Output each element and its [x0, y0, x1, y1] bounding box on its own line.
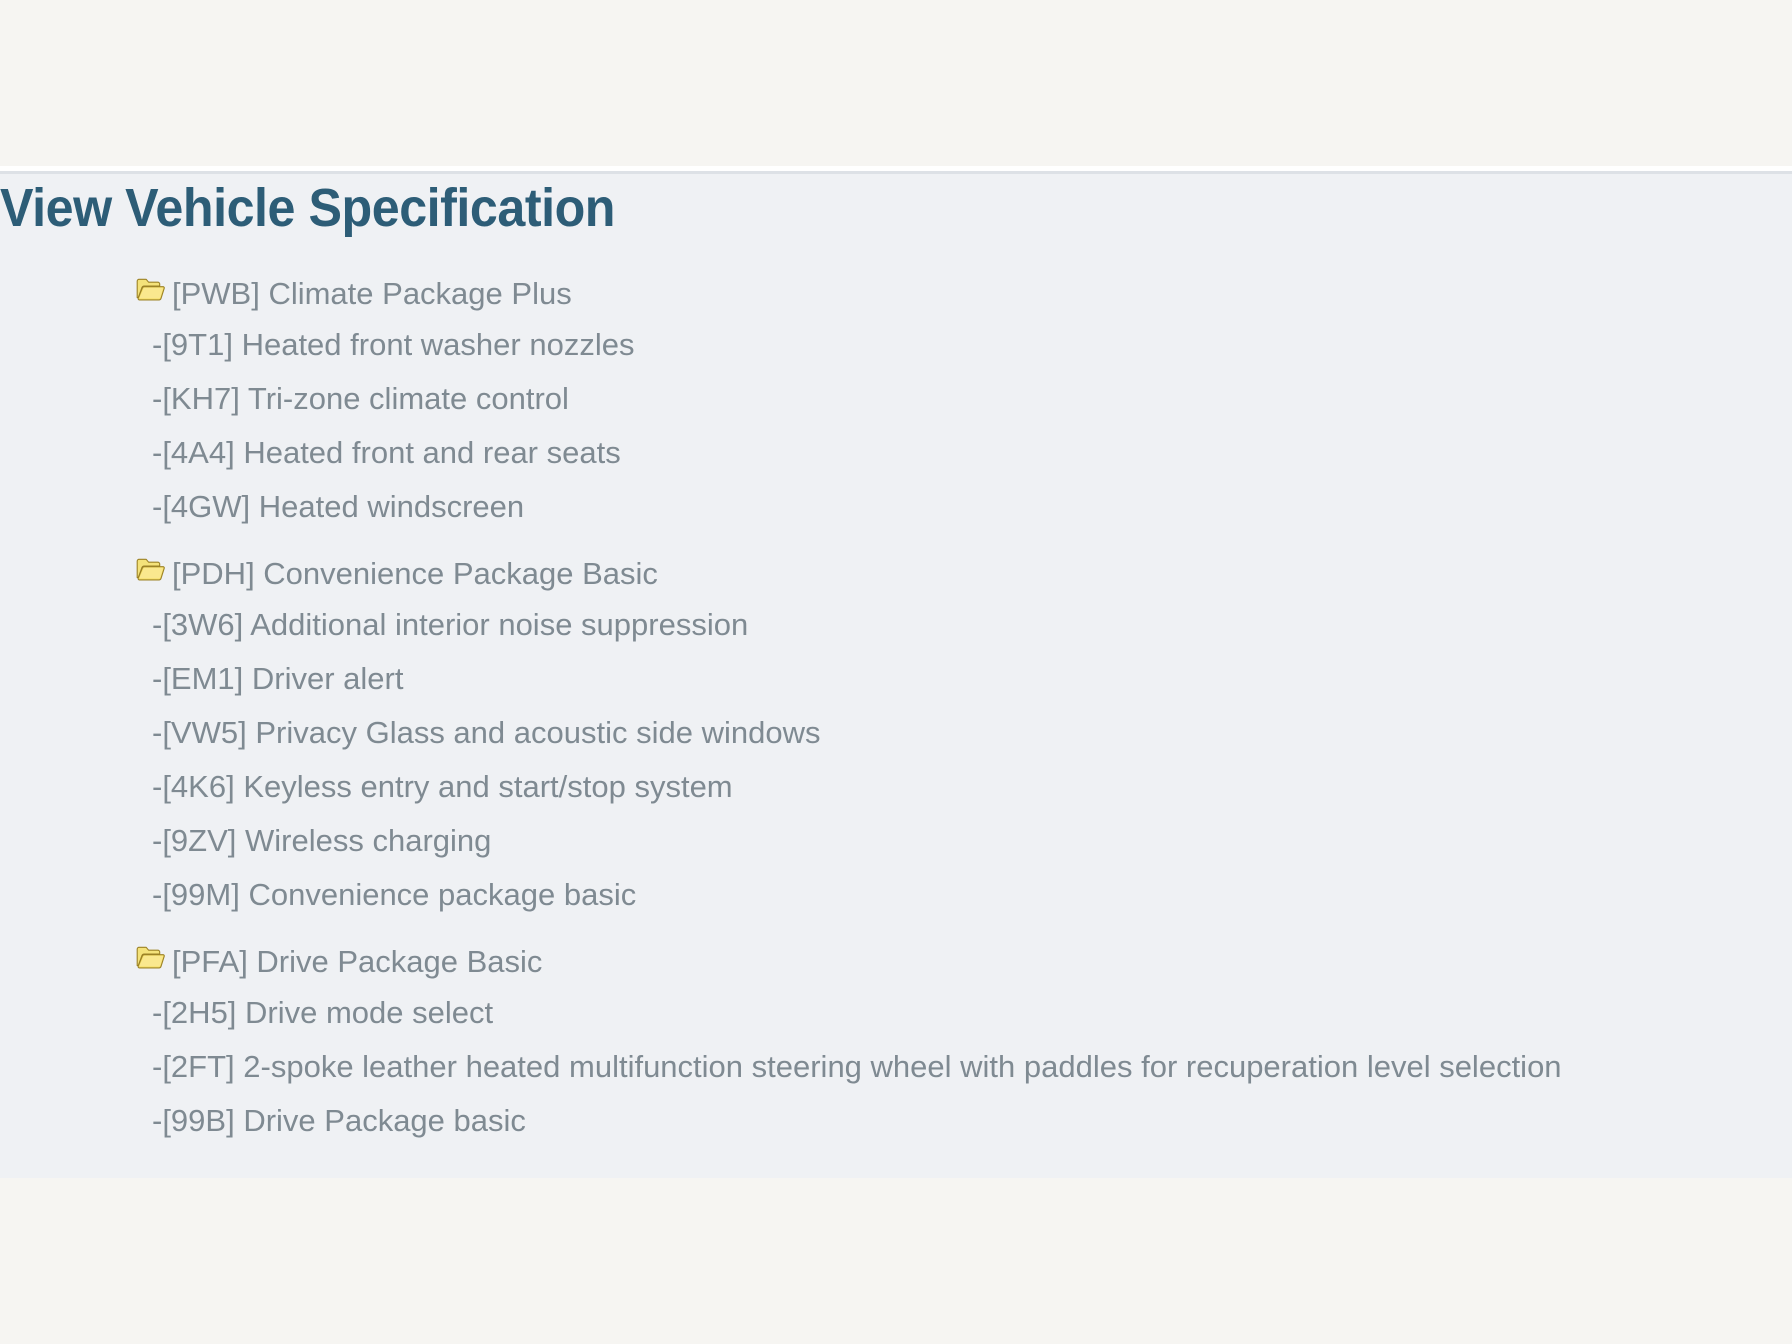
- spec-item-9t1[interactable]: -[9T1] Heated front washer nozzles: [0, 318, 1792, 372]
- spec-item-4k6[interactable]: -[4K6] Keyless entry and start/stop syst…: [0, 760, 1792, 814]
- folder-open-icon: [136, 557, 165, 582]
- spec-group-items: -[2H5] Drive mode select-[2FT] 2-spoke l…: [0, 986, 1792, 1148]
- spec-group-header-pdh[interactable]: [PDH] Convenience Package Basic: [0, 552, 1792, 598]
- spec-item-2ft[interactable]: -[2FT] 2-spoke leather heated multifunct…: [0, 1040, 1792, 1094]
- spec-item-99b[interactable]: -[99B] Drive Package basic: [0, 1094, 1792, 1148]
- spec-item-2h5[interactable]: -[2H5] Drive mode select: [0, 986, 1792, 1040]
- spec-group-label: [PWB] Climate Package Plus: [172, 272, 572, 316]
- specification-tree: [PWB] Climate Package Plus -[9T1] Heated…: [0, 272, 1792, 1148]
- spec-item-4gw[interactable]: -[4GW] Heated windscreen: [0, 480, 1792, 534]
- spec-item-9zv[interactable]: -[9ZV] Wireless charging: [0, 814, 1792, 868]
- spec-item-3w6[interactable]: -[3W6] Additional interior noise suppres…: [0, 598, 1792, 652]
- folder-open-icon: [136, 945, 165, 970]
- spec-group-items: -[9T1] Heated front washer nozzles-[KH7]…: [0, 318, 1792, 534]
- spec-group-pdh: [PDH] Convenience Package Basic -[3W6] A…: [0, 552, 1792, 922]
- top-background-band: [0, 0, 1792, 166]
- spec-group-label: [PDH] Convenience Package Basic: [172, 552, 658, 596]
- spec-item-4a4[interactable]: -[4A4] Heated front and rear seats: [0, 426, 1792, 480]
- bottom-background-band: [0, 1178, 1792, 1344]
- spec-group-pfa: [PFA] Drive Package Basic -[2H5] Drive m…: [0, 940, 1792, 1148]
- page-title: View Vehicle Specification: [0, 178, 615, 238]
- spec-group-header-pfa[interactable]: [PFA] Drive Package Basic: [0, 940, 1792, 986]
- content-panel: View Vehicle Specification [PWB] Climate…: [0, 174, 1792, 1178]
- spec-item-em1[interactable]: -[EM1] Driver alert: [0, 652, 1792, 706]
- spec-group-items: -[3W6] Additional interior noise suppres…: [0, 598, 1792, 922]
- spec-group-header-pwb[interactable]: [PWB] Climate Package Plus: [0, 272, 1792, 318]
- spec-item-99m[interactable]: -[99M] Convenience package basic: [0, 868, 1792, 922]
- folder-open-icon: [136, 277, 165, 302]
- spec-item-vw5[interactable]: -[VW5] Privacy Glass and acoustic side w…: [0, 706, 1792, 760]
- spec-item-kh7[interactable]: -[KH7] Tri-zone climate control: [0, 372, 1792, 426]
- spec-group-pwb: [PWB] Climate Package Plus -[9T1] Heated…: [0, 272, 1792, 534]
- spec-group-label: [PFA] Drive Package Basic: [172, 940, 542, 984]
